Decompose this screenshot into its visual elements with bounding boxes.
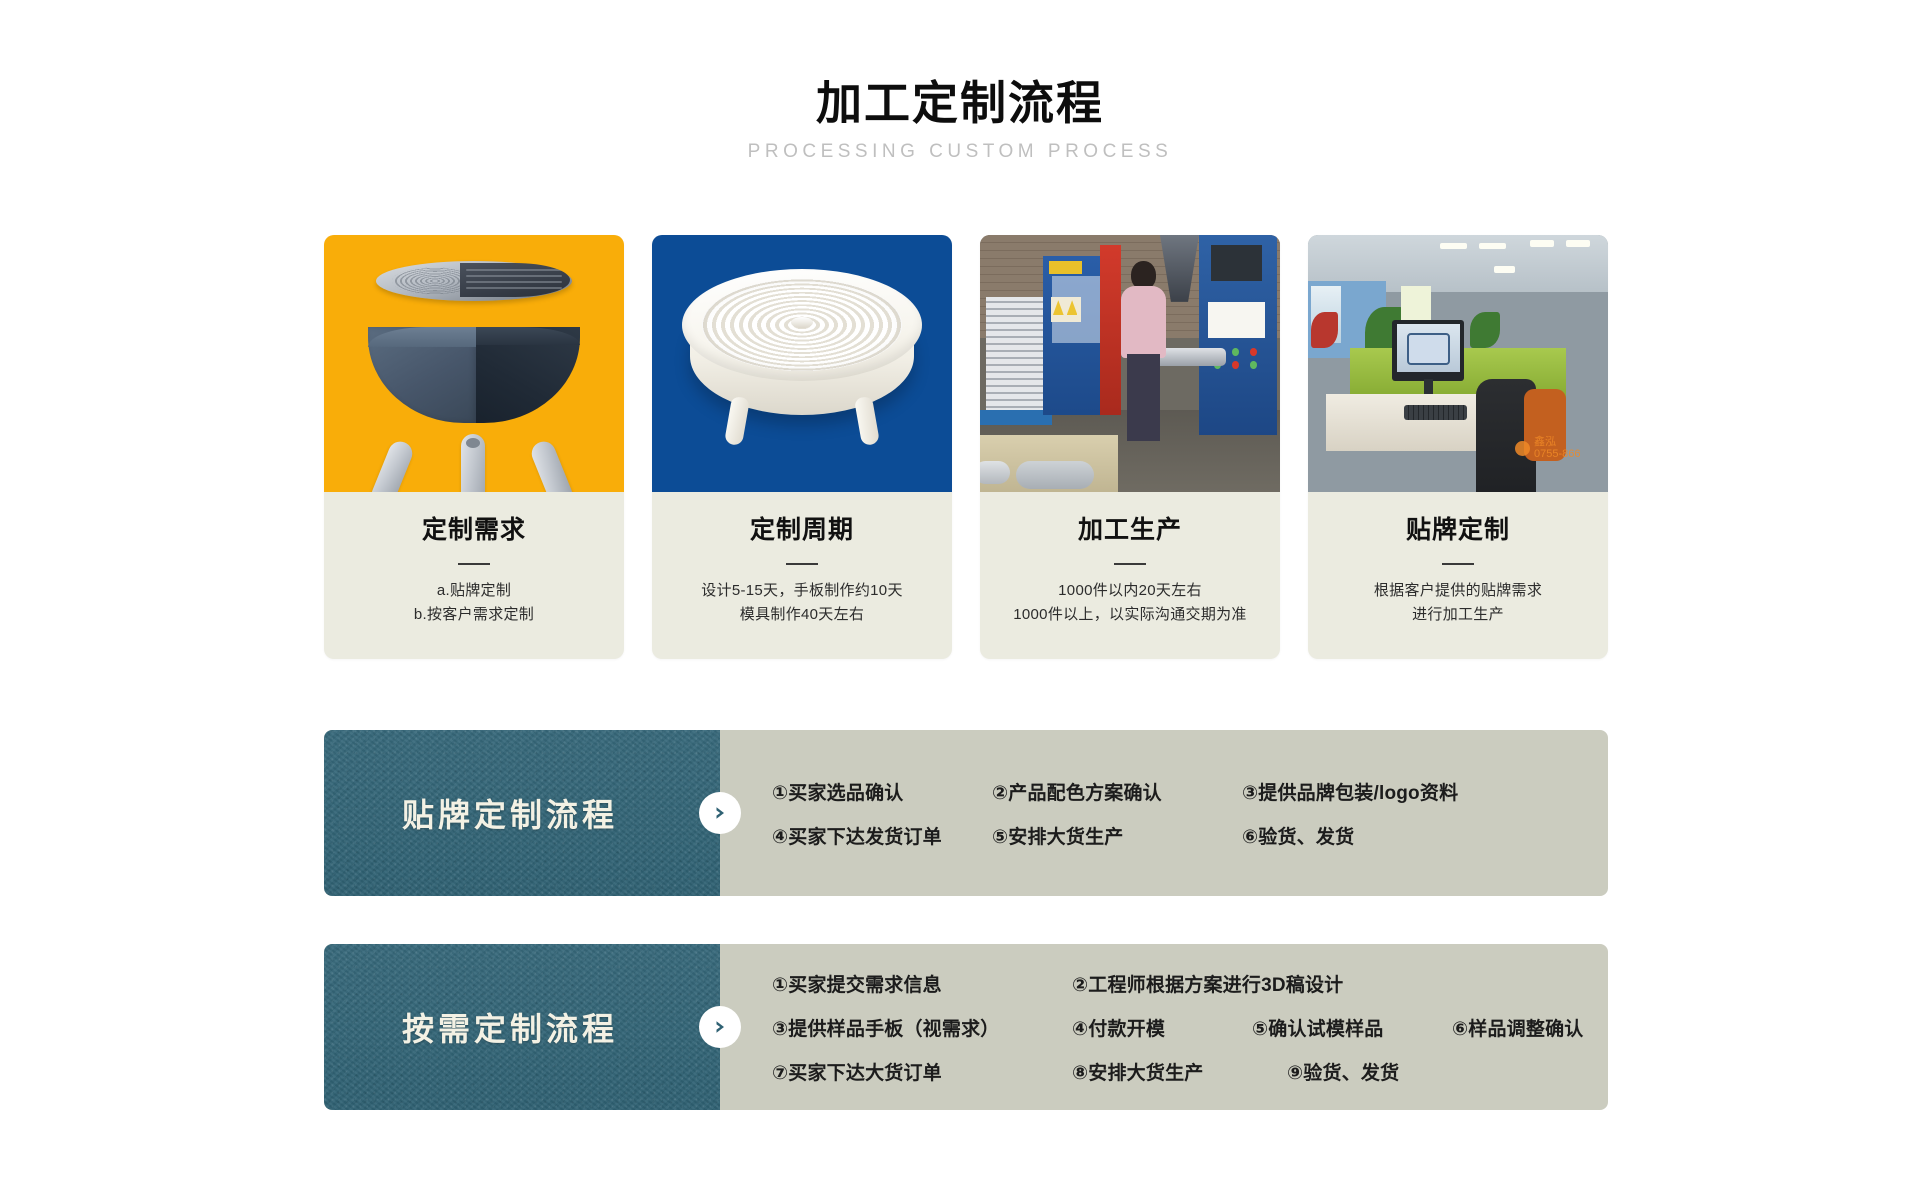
card-description: 设计5-15天，手板制作约10天 模具制作40天左右 (689, 579, 915, 628)
card-description-line: 进行加工生产 (1374, 603, 1542, 627)
card-title: 定制需求 (422, 510, 526, 546)
process-card-list: 定制需求 a.贴牌定制 b.按客户需求定制 (324, 235, 1608, 659)
process-card-oem[interactable]: 鑫泓 0755-866 贴牌定制 根据客户提供的贴牌需求 进行加工生产 (1308, 235, 1608, 659)
chevron-right-icon[interactable] (699, 1006, 741, 1048)
card-body: 加工生产 1000件以内20天左右 1000件以上，以实际沟通交期为准 (980, 492, 1280, 659)
worker-figure (1121, 261, 1166, 441)
card-description-line: 1000件以内20天左右 (1013, 579, 1246, 603)
bowl-leg-left-icon (724, 396, 750, 446)
process-step-row: ⑦买家下达大货订单 ⑧安排大货生产 ⑨验货、发货 (772, 1049, 1590, 1093)
watermark-line-2: 0755-866 (1534, 448, 1581, 460)
card-title: 加工生产 (1078, 510, 1182, 546)
card-description-line: 设计5-15天，手板制作约10天 (701, 579, 903, 603)
card-description: 根据客户提供的贴牌需求 进行加工生产 (1362, 579, 1554, 628)
process-step: ⑤安排大货生产 (992, 822, 1242, 849)
card-media-factory-photo (980, 235, 1280, 492)
process-step: ③提供品牌包装/logo资料 (1242, 778, 1458, 805)
card-description-line: 1000件以上，以实际沟通交期为准 (1013, 603, 1246, 627)
grill-leg-center-icon (461, 434, 485, 492)
process-step: ⑨验货、发货 (1287, 1058, 1399, 1085)
process-bar-label-text: 按需定制流程 (402, 1004, 618, 1050)
watermark-line-1: 鑫泓 (1534, 436, 1556, 448)
card-description: a.贴牌定制 b.按客户需求定制 (402, 579, 546, 628)
chevron-right-icon[interactable] (699, 792, 741, 834)
page-subtitle: PROCESSING CUSTOM PROCESS (0, 141, 1920, 163)
card-divider (1442, 563, 1474, 565)
process-card-custom-requirement[interactable]: 定制需求 a.贴牌定制 b.按客户需求定制 (324, 235, 624, 659)
process-bar-oem: 贴牌定制流程 ①买家选品确认 ②产品配色方案确认 ③提供品牌包装/logo资料 … (324, 730, 1608, 896)
process-step: ②产品配色方案确认 (992, 778, 1242, 805)
process-bar-label-on-demand: 按需定制流程 (324, 944, 720, 1110)
card-description: 1000件以内20天左右 1000件以上，以实际沟通交期为准 (1001, 579, 1258, 628)
card-description-line: 模具制作40天左右 (701, 603, 903, 627)
process-bar-on-demand: 按需定制流程 ①买家提交需求信息 ②工程师根据方案进行3D稿设计 ③提供样品手板… (324, 944, 1608, 1110)
process-card-custom-cycle[interactable]: 定制周期 设计5-15天，手板制作约10天 模具制作40天左右 (652, 235, 952, 659)
process-step-row: ①买家选品确认 ②产品配色方案确认 ③提供品牌包装/logo资料 (772, 769, 1590, 813)
grill-lid-illustration (376, 261, 572, 301)
grill-bowl-illustration (368, 327, 580, 423)
process-step: ④付款开模 (1072, 1014, 1252, 1041)
warning-label-icon (1051, 297, 1081, 323)
process-step-row: ③提供样品手板（视需求） ④付款开模 ⑤确认试模样品 ⑥样品调整确认 (772, 1005, 1590, 1049)
watermark-logo-icon (1515, 441, 1530, 456)
process-step: ①买家选品确认 (772, 778, 992, 805)
process-step: ⑦买家下达大货订单 (772, 1058, 1072, 1085)
maze-bowl-illustration (676, 269, 928, 469)
factory-photo-illustration (980, 235, 1280, 492)
card-description-line: b.按客户需求定制 (414, 603, 534, 627)
process-card-production[interactable]: 加工生产 1000件以内20天左右 1000件以上，以实际沟通交期为准 (980, 235, 1280, 659)
process-bar-label-oem: 贴牌定制流程 (324, 730, 720, 896)
card-body: 贴牌定制 根据客户提供的贴牌需求 进行加工生产 (1308, 492, 1608, 659)
grill-leg-left-icon (368, 438, 416, 492)
process-step: ④买家下达发货订单 (772, 822, 992, 849)
process-step-row: ①买家提交需求信息 ②工程师根据方案进行3D稿设计 (772, 961, 1590, 1005)
card-divider (786, 563, 818, 565)
custom-process-page: 加工定制流程 PROCESSING CUSTOM PROCESS 定制需求 (0, 0, 1920, 1200)
process-step: ②工程师根据方案进行3D稿设计 (1072, 970, 1343, 997)
process-step: ⑧安排大货生产 (1072, 1058, 1287, 1085)
process-step: ⑥样品调整确认 (1452, 1014, 1584, 1041)
bowl-leg-right-icon (854, 396, 880, 446)
card-media-office-photo: 鑫泓 0755-866 (1308, 235, 1608, 492)
grill-leg-right-icon (528, 438, 576, 492)
card-media-maze-bowl (652, 235, 952, 492)
card-title: 贴牌定制 (1406, 510, 1510, 546)
card-body: 定制周期 设计5-15天，手板制作约10天 模具制作40天左右 (652, 492, 952, 659)
card-body: 定制需求 a.贴牌定制 b.按客户需求定制 (324, 492, 624, 659)
process-step-row: ④买家下达发货订单 ⑤安排大货生产 ⑥验货、发货 (772, 813, 1590, 857)
page-title: 加工定制流程 (0, 78, 1920, 129)
process-bar-label-text: 贴牌定制流程 (402, 790, 618, 836)
card-description-line: 根据客户提供的贴牌需求 (1374, 579, 1542, 603)
process-step: ①买家提交需求信息 (772, 970, 1072, 997)
card-divider (458, 563, 490, 565)
process-step: ⑤确认试模样品 (1252, 1014, 1452, 1041)
process-step: ③提供样品手板（视需求） (772, 1014, 1072, 1041)
card-title: 定制周期 (750, 510, 854, 546)
card-description-line: a.贴牌定制 (414, 579, 534, 603)
office-photo-illustration: 鑫泓 0755-866 (1308, 235, 1608, 492)
card-divider (1114, 563, 1146, 565)
process-step: ⑥验货、发货 (1242, 822, 1354, 849)
photo-watermark: 鑫泓 0755-866 (1515, 420, 1599, 477)
card-media-exploded-grill (324, 235, 624, 492)
process-bar-steps-oem: ①买家选品确认 ②产品配色方案确认 ③提供品牌包装/logo资料 ④买家下达发货… (720, 730, 1608, 896)
page-header: 加工定制流程 PROCESSING CUSTOM PROCESS (0, 78, 1920, 163)
process-bar-steps-on-demand: ①买家提交需求信息 ②工程师根据方案进行3D稿设计 ③提供样品手板（视需求） ④… (720, 944, 1608, 1110)
